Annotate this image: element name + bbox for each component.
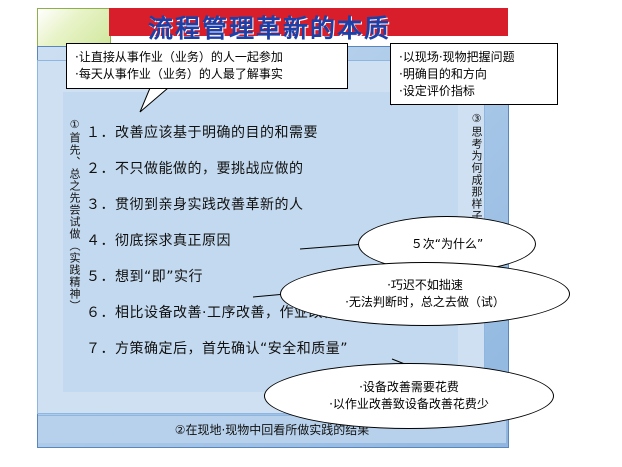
- callout-participation: ·让直接从事作业（业务）的人一起参加 ·每天从事作业（业务）的人最了解事实: [66, 43, 348, 89]
- callout-line: ·设备改善需要花费: [359, 379, 459, 396]
- callout-cost: ·设备改善需要花费 ·以作业改善致设备改善花费少: [264, 363, 554, 429]
- callout-line: ·巧迟不如拙速: [387, 277, 463, 294]
- list-item: １．改善应该基于明确的目的和需要: [86, 122, 441, 142]
- page-title: 流程管理革新的本质: [148, 9, 391, 45]
- callout-line: ·以现场·现物把握问题: [399, 49, 549, 66]
- callout-line: ·无法判断时，总之去做（试）: [345, 294, 505, 311]
- callout-line: ·以作业改善致设备改善花费少: [329, 396, 489, 413]
- callout-line: ５次“为什么”: [411, 236, 483, 253]
- diagram-canvas: 流程管理革新的本质 ①首先、总之先尝试做（实践精神） ③思考为何成那样子、求真 …: [0, 0, 622, 467]
- list-item: ７．方策确定后，首先确认“安全和质量”: [86, 338, 441, 358]
- frame-left-label: ①首先、总之先尝试做（实践精神）: [66, 118, 82, 318]
- callout-line: ·让直接从事作业（业务）的人一起参加: [75, 49, 339, 66]
- callout-line: ·设定评价指标: [399, 83, 549, 100]
- callout-speed: ·巧迟不如拙速 ·无法判断时，总之去做（试）: [280, 262, 570, 326]
- list-item: ２．不只做能做的，要挑战应做的: [86, 158, 441, 178]
- list-item: ３．贯彻到亲身实践改善革新的人: [86, 194, 441, 214]
- callout-line: ·每天从事作业（业务）的人最了解事实: [75, 66, 339, 83]
- callout-line: ·明确目的和方向: [399, 66, 549, 83]
- callout-genba: ·以现场·现物把握问题 ·明确目的和方向 ·设定评价指标: [390, 43, 558, 105]
